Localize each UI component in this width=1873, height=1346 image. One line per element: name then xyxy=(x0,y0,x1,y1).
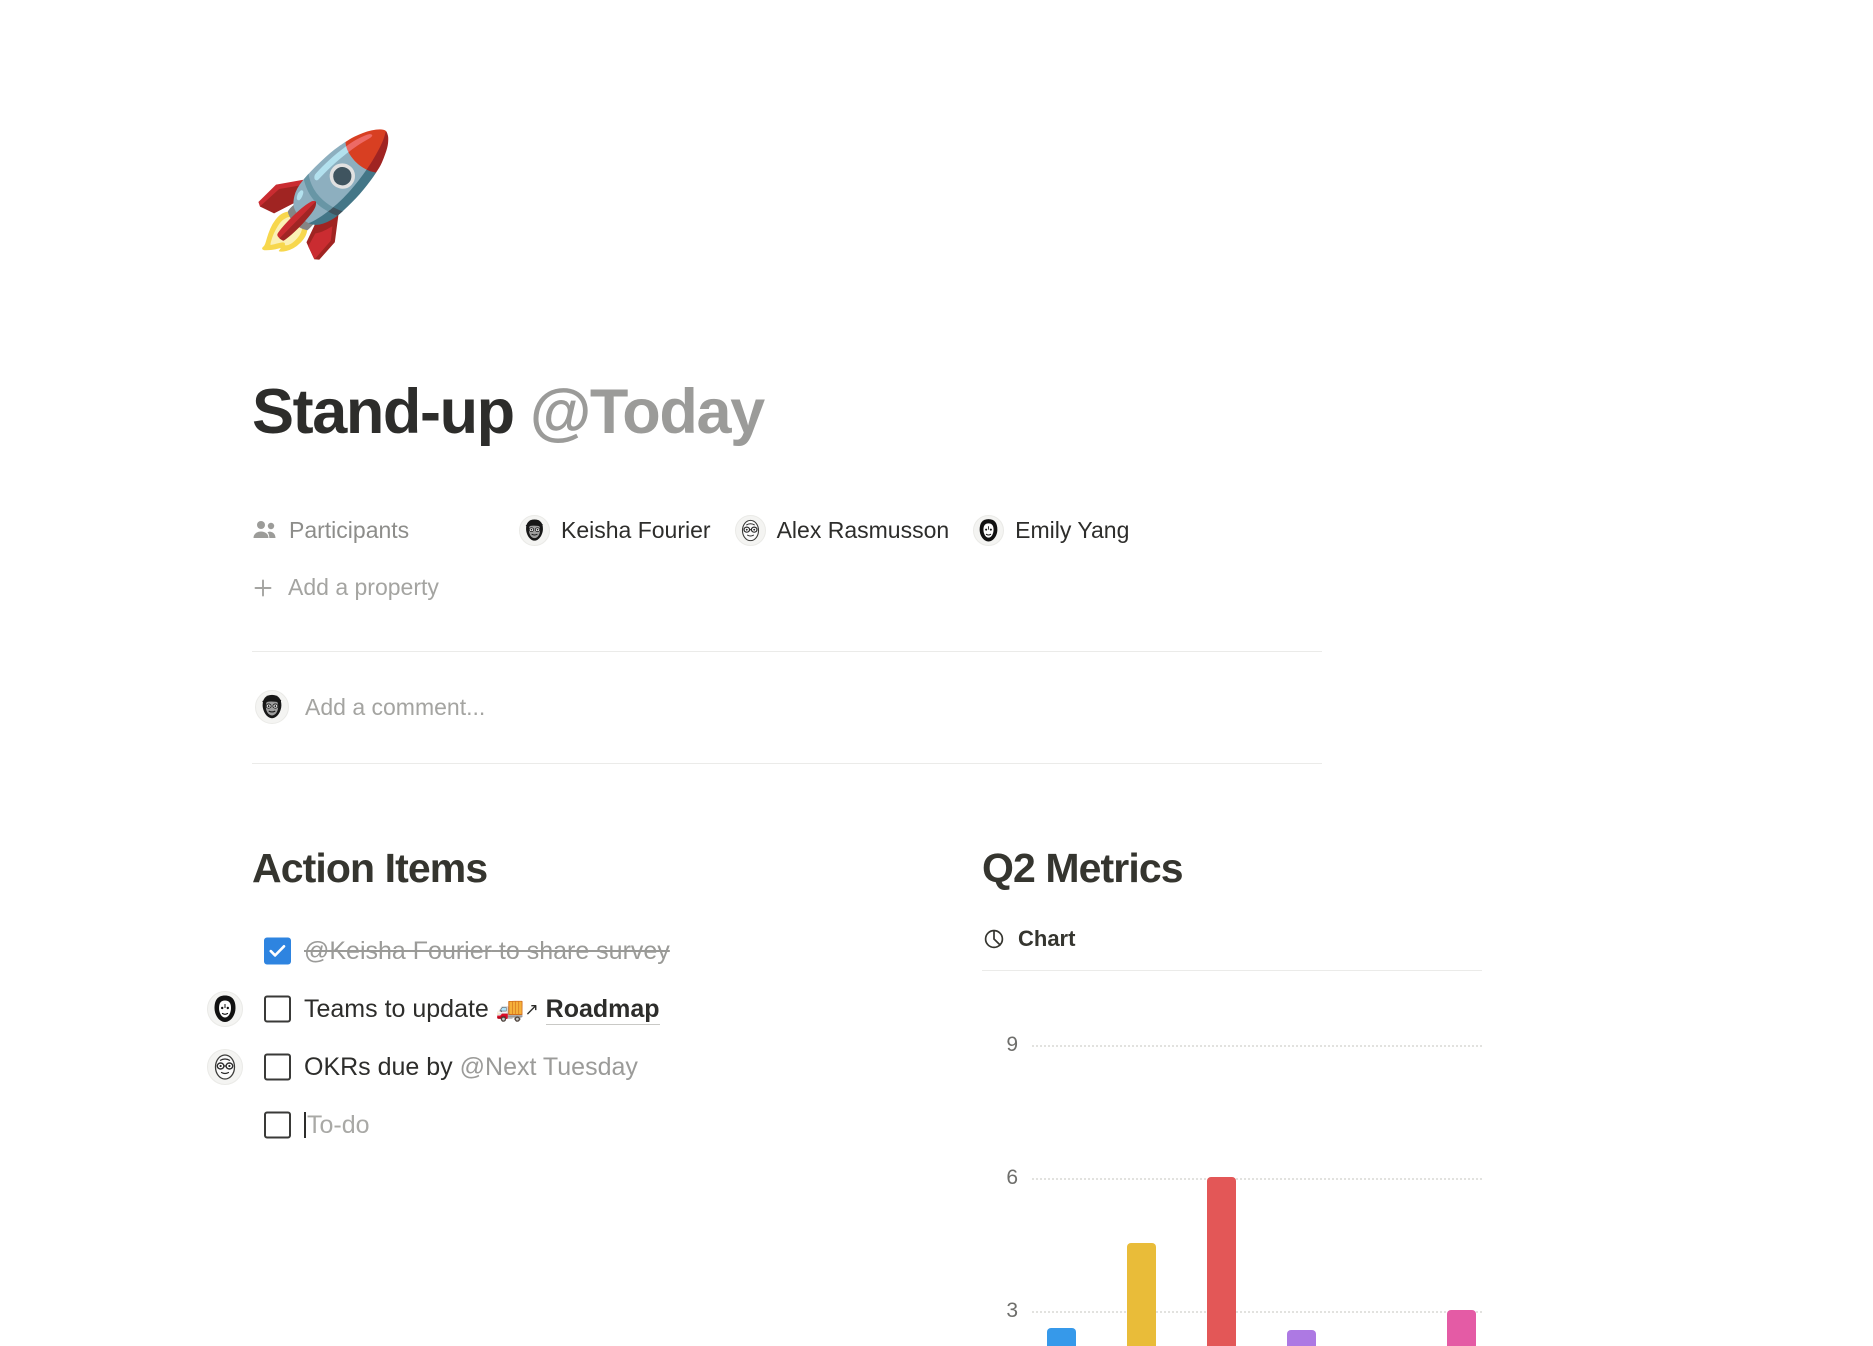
action-items-heading: Action Items xyxy=(252,845,872,892)
todo-body: Teams to update xyxy=(304,995,496,1023)
metrics-column: Q2 Metrics Chart 9 6 3 xyxy=(982,845,1582,1346)
todo-body: to share survey xyxy=(492,937,670,965)
checkbox-unchecked[interactable] xyxy=(264,1112,291,1139)
todo-item[interactable]: Teams to update 🚚↗ Roadmap xyxy=(252,980,872,1038)
todo-item-empty[interactable]: To-do xyxy=(252,1096,872,1154)
participants-label-text: Participants xyxy=(289,517,409,544)
ytick-9: 9 xyxy=(982,1033,1018,1057)
participants-list: Keisha Fourier Alex Rasmusson xyxy=(519,515,1153,546)
todo-link-roadmap[interactable]: Roadmap xyxy=(546,995,660,1025)
text-cursor xyxy=(304,1112,306,1138)
page-title-main: Stand-up xyxy=(252,377,530,447)
divider-bottom xyxy=(252,763,1322,764)
todo-item[interactable]: OKRs due by @Next Tuesday xyxy=(252,1038,872,1096)
property-row-participants: Participants Keisha Fourier xyxy=(252,513,1153,547)
divider-top xyxy=(252,651,1322,652)
bar-chart[interactable]: 9 6 3 xyxy=(982,1005,1482,1346)
participant-name: Emily Yang xyxy=(1015,517,1129,544)
note-page: 🚀 Stand-up @Today Participants xyxy=(0,0,1873,1346)
todo-text[interactable]: @Keisha Fourier to share survey xyxy=(304,937,670,966)
delivery-truck-icon: 🚚 xyxy=(496,996,525,1022)
rocket-icon[interactable]: 🚀 xyxy=(250,128,382,260)
add-property-label: Add a property xyxy=(288,574,439,601)
link-arrow-icon: ↗ xyxy=(524,1000,538,1019)
checkbox-checked[interactable] xyxy=(264,938,291,965)
add-comment-row[interactable]: Add a comment... xyxy=(255,690,485,724)
action-items-column: Action Items @Keisha Fourier to share su… xyxy=(252,845,872,1154)
todo-mention: @Keisha Fourier xyxy=(304,937,492,965)
ytick-6: 6 xyxy=(982,1166,1018,1190)
avatar xyxy=(255,690,289,724)
tab-chart-label: Chart xyxy=(1018,926,1075,952)
todo-mention: @Next Tuesday xyxy=(460,1053,638,1081)
avatar xyxy=(519,515,550,546)
participants-property-label[interactable]: Participants xyxy=(252,517,512,544)
participant-name: Alex Rasmusson xyxy=(777,517,950,544)
participant-emily[interactable]: Emily Yang xyxy=(973,515,1129,546)
page-title-mention: @Today xyxy=(530,377,764,447)
todo-text[interactable]: Teams to update 🚚↗ Roadmap xyxy=(304,995,660,1024)
action-items-checklist: @Keisha Fourier to share survey Teams to… xyxy=(252,922,872,1154)
bar-1[interactable] xyxy=(1047,1328,1076,1346)
metrics-heading: Q2 Metrics xyxy=(982,845,1582,892)
avatar xyxy=(207,1049,243,1085)
chart-divider xyxy=(982,970,1482,971)
avatar xyxy=(973,515,1004,546)
tab-chart[interactable]: Chart xyxy=(982,926,1075,952)
bar-4[interactable] xyxy=(1287,1330,1316,1346)
gridline-3 xyxy=(1032,1311,1482,1313)
ytick-3: 3 xyxy=(982,1299,1018,1323)
avatar xyxy=(735,515,766,546)
todo-placeholder-text: To-do xyxy=(307,1111,370,1139)
todo-body: OKRs due by xyxy=(304,1053,460,1081)
page-title[interactable]: Stand-up @Today xyxy=(252,376,764,448)
todo-item[interactable]: @Keisha Fourier to share survey xyxy=(252,922,872,980)
bar-2[interactable] xyxy=(1127,1243,1156,1346)
pie-chart-icon xyxy=(982,927,1006,951)
participant-keisha[interactable]: Keisha Fourier xyxy=(519,515,711,546)
checkbox-unchecked[interactable] xyxy=(264,996,291,1023)
participant-name: Keisha Fourier xyxy=(561,517,711,544)
todo-text[interactable]: OKRs due by @Next Tuesday xyxy=(304,1053,638,1082)
todo-placeholder[interactable]: To-do xyxy=(304,1111,370,1140)
gridline-6 xyxy=(1032,1178,1482,1180)
add-property-button[interactable]: Add a property xyxy=(252,574,439,601)
bar-6[interactable] xyxy=(1447,1310,1476,1346)
gridline-9 xyxy=(1032,1045,1482,1047)
participant-alex[interactable]: Alex Rasmusson xyxy=(735,515,950,546)
checkbox-unchecked[interactable] xyxy=(264,1054,291,1081)
people-icon xyxy=(252,519,278,541)
bar-3[interactable] xyxy=(1207,1177,1236,1346)
plus-icon xyxy=(252,577,274,599)
comment-placeholder[interactable]: Add a comment... xyxy=(305,694,485,721)
avatar xyxy=(207,991,243,1027)
